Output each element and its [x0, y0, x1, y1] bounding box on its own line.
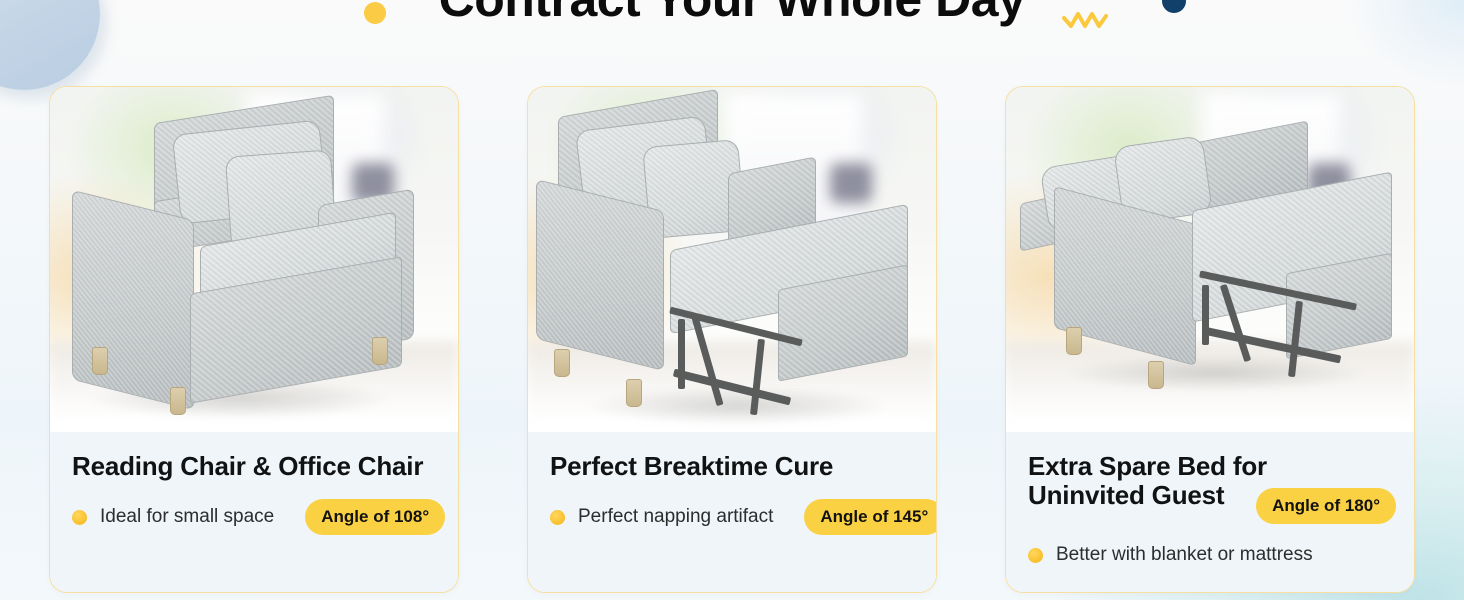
- feature-card-list: Reading Chair & Office Chair Ideal for s…: [0, 86, 1464, 593]
- sofa-illustration-upright: [50, 87, 458, 432]
- angle-badge: Angle of 108°: [305, 499, 445, 535]
- angle-badge: Angle of 180°: [1256, 488, 1396, 524]
- feature-card[interactable]: Extra Spare Bed for Uninvited Guest Angl…: [1005, 86, 1415, 593]
- feature-row: Better with blanket or mattress: [1028, 544, 1392, 566]
- feature-card-body: Extra Spare Bed for Uninvited Guest Angl…: [1006, 432, 1414, 592]
- feature-text: Ideal for small space: [100, 506, 274, 528]
- card-title: Reading Chair & Office Chair: [72, 452, 436, 481]
- feature-card[interactable]: Reading Chair & Office Chair Ideal for s…: [49, 86, 459, 593]
- feature-card-body: Perfect Breaktime Cure Perfect napping a…: [528, 432, 936, 592]
- promo-banner: Contract Your Whole Day: [0, 0, 1464, 600]
- product-photo-spare-bed: [1006, 87, 1414, 432]
- feature-card-body: Reading Chair & Office Chair Ideal for s…: [50, 432, 458, 592]
- sofa-illustration-flat-bed: [1006, 87, 1414, 432]
- product-photo-reading-chair: [50, 87, 458, 432]
- sofa-illustration-reclined: [528, 87, 936, 432]
- feature-text: Perfect napping artifact: [578, 506, 773, 528]
- feature-card[interactable]: Perfect Breaktime Cure Perfect napping a…: [527, 86, 937, 593]
- bullet-dot-icon: [550, 510, 565, 525]
- page-title: Contract Your Whole Day: [0, 0, 1464, 28]
- product-photo-breaktime-lounge: [528, 87, 936, 432]
- bullet-dot-icon: [72, 510, 87, 525]
- feature-row: Perfect napping artifact Angle of 145°: [550, 499, 914, 535]
- angle-badge: Angle of 145°: [804, 499, 937, 535]
- bullet-dot-icon: [1028, 548, 1043, 563]
- feature-row: Ideal for small space Angle of 108°: [72, 499, 436, 535]
- card-title: Perfect Breaktime Cure: [550, 452, 914, 481]
- feature-text: Better with blanket or mattress: [1056, 544, 1313, 566]
